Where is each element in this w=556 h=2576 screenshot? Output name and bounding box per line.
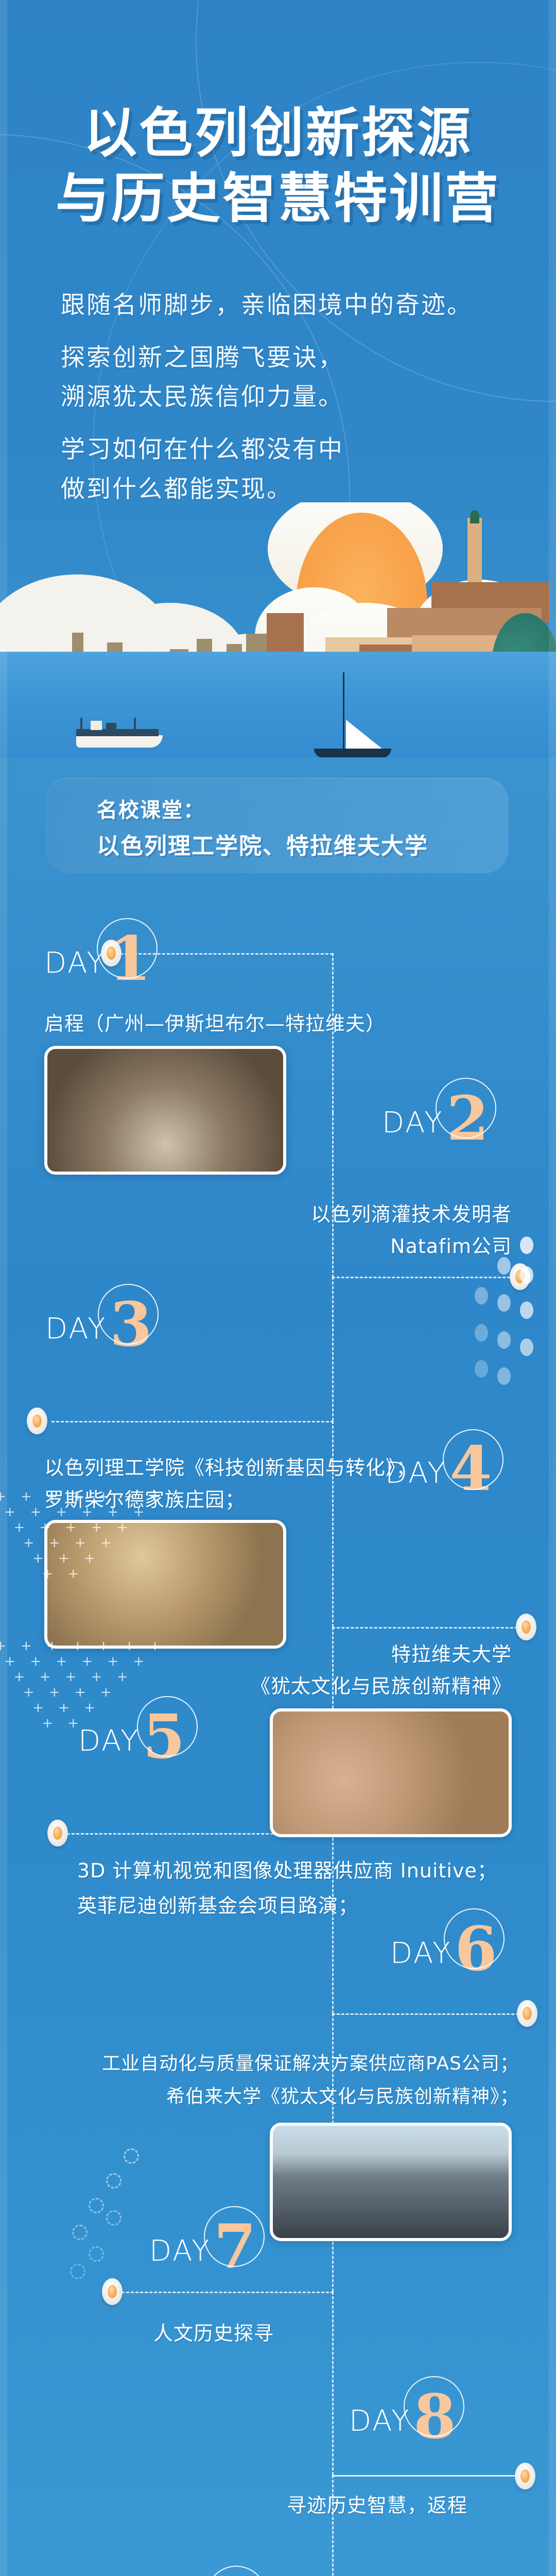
day-4-text-1: 《犹太文化与民族创新精神》 (251, 1671, 512, 1702)
day-4-word: DAY (385, 1456, 446, 1490)
day-3-text-0: 以色列理工学院《科技创新基因与转化》； (44, 1453, 416, 1483)
day-2-word: DAY (382, 1106, 443, 1140)
decor-ring-cluster (62, 2148, 144, 2293)
title-line-1: 以色列创新探源 (0, 100, 556, 166)
connector-v-3 (332, 1277, 334, 1421)
title-line-2: 与历史智慧特训营 (0, 166, 556, 231)
connector-v-8 (332, 2292, 334, 2475)
hero-illustration (0, 502, 556, 757)
connector-h-8 (332, 2475, 524, 2477)
day-3-node (27, 1408, 47, 1434)
hero-subtitle: 跟随名师脚步，亲临困境中的奇迹。 探索创新之国腾飞要诀， 溯源犹太民族信仰力量。… (61, 286, 503, 509)
day-1-text-0: 启程（广州—伊斯坦布尔—特拉维夫） (44, 1009, 386, 1039)
day-4-photo (270, 1708, 512, 1837)
decor-cross-cluster-left: + + + + + + + + + + + + + + + + + + + + … (0, 1489, 124, 1623)
school-highlight-card: 名校课堂： 以色列理工学院、特拉维夫大学 (45, 778, 509, 873)
subtitle-line-3: 学习如何在什么都没有中 (61, 430, 503, 469)
sailboat-icon (309, 672, 396, 757)
day-8-text-0: 寻迹历史智慧，返程 (287, 2490, 467, 2521)
subtitle-line-2: 溯源犹太民族信仰力量。 (61, 378, 503, 417)
subtitle-line-1: 探索创新之国腾飞要诀， (61, 338, 503, 378)
connector-v-2 (332, 1113, 334, 1278)
day-9-orbit-icon-2 (195, 2554, 278, 2576)
day-5-text-0: 3D 计算机视觉和图像处理器供应商 Inuitive； (77, 1856, 497, 1886)
connector-h-3 (51, 1421, 334, 1422)
day-8-word: DAY (349, 2404, 410, 2438)
day-6-word: DAY (390, 1937, 451, 1970)
day-6-text-1: 希伯来大学《犹太文化与民族创新精神》； (166, 2082, 519, 2111)
hero-section: 以色列创新探源 与历史智慧特训营 跟随名师脚步，亲临困境中的奇迹。 探索创新之国… (0, 0, 556, 757)
connector-h-6 (332, 2013, 524, 2015)
connector-v-4 (332, 1421, 334, 1627)
day-4-node (516, 1614, 536, 1640)
day-6-photo (270, 2123, 512, 2241)
day-1-node (101, 940, 121, 967)
day-5-text-1: 英菲尼迪创新基金会项目路演； (77, 1891, 358, 1921)
page-title: 以色列创新探源 与历史智慧特训营 (0, 100, 556, 231)
left-edge-stripe (0, 0, 7, 2576)
day-6-text-0: 工业自动化与质量保证解决方案供应商PAS公司； (102, 2049, 519, 2078)
day-2-text-0: 以色列滴灌技术发明者 (311, 1199, 512, 1230)
school-card-line-2: 以色列理工学院、特拉维夫大学 (97, 827, 428, 860)
minaret-cap (470, 510, 479, 523)
day-5-node (47, 1820, 68, 1846)
day-1-photo (44, 1046, 286, 1175)
connector-h-7 (112, 2292, 334, 2293)
school-card-line-1: 名校课堂： (97, 793, 205, 823)
day-6-node (517, 2000, 537, 2027)
itinerary-timeline: DAY1 启程（广州—伊斯坦布尔—特拉维夫） DAY2 以色列滴灌技术发明者 N… (0, 896, 556, 2576)
day-4-text-0: 特拉维夫大学 (391, 1639, 512, 1670)
ferry-boat-icon (72, 718, 165, 750)
day-7-text-0: 人文历史探寻 (153, 2318, 274, 2349)
connector-h-4 (332, 1627, 523, 1629)
right-edge-stripe (549, 0, 556, 2576)
decor-dot-cluster-right (463, 1236, 541, 1396)
day-8-node (515, 2463, 535, 2489)
subtitle-line-0: 跟随名师脚步，亲临困境中的奇迹。 (61, 286, 503, 325)
day-7-word: DAY (149, 2234, 211, 2268)
decor-cross-cluster-left-2: + + + + + + + + + + + + + + + + + + + + … (0, 1638, 124, 1772)
